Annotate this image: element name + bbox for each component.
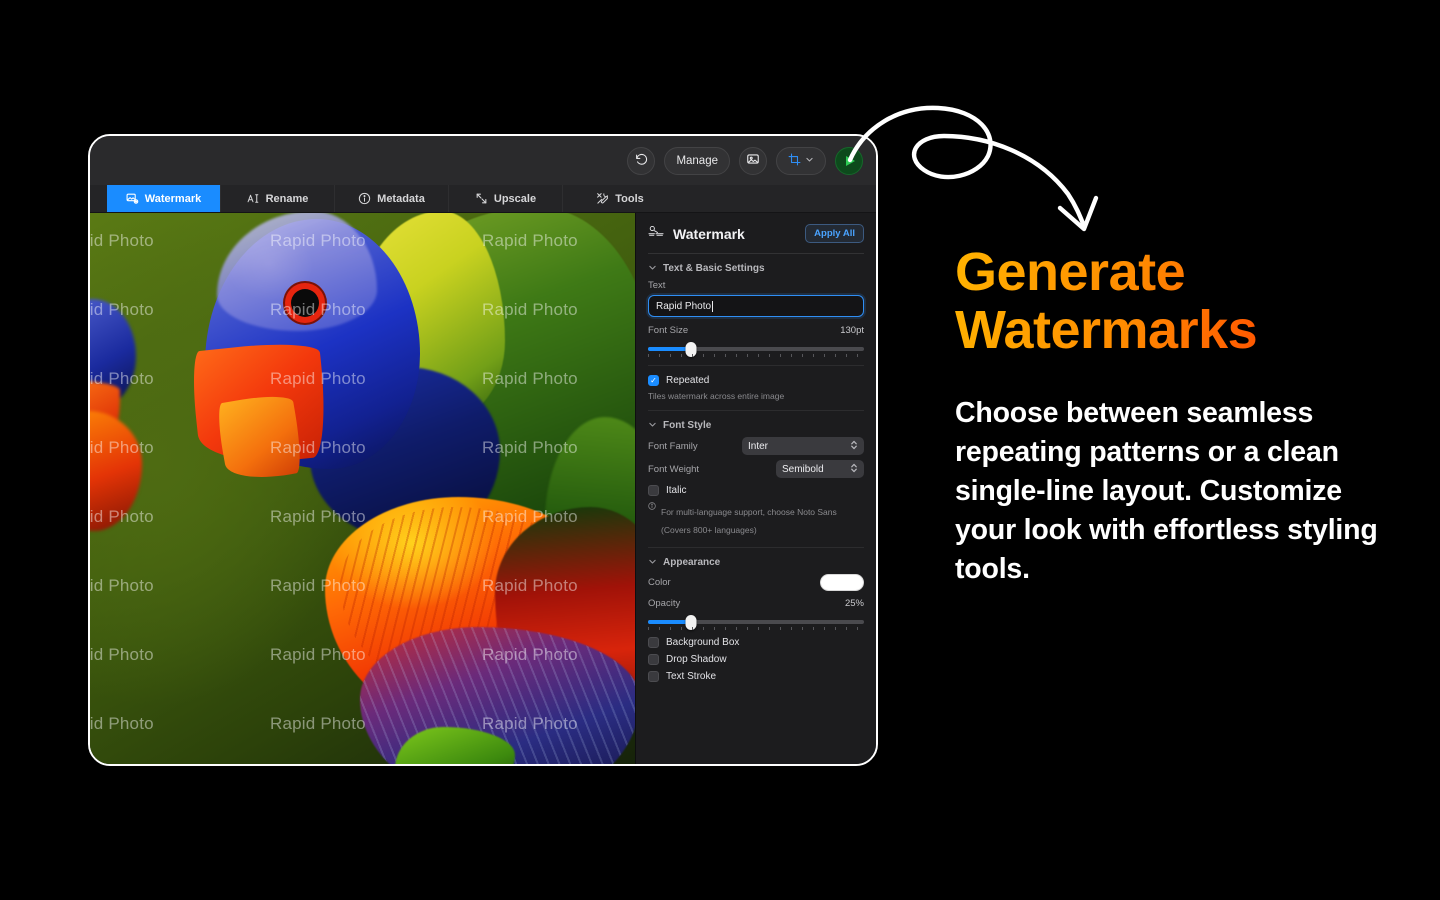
text-stroke-label: Text Stroke [666, 671, 716, 682]
drop-shadow-label: Drop Shadow [666, 654, 727, 665]
italic-checkbox[interactable] [648, 485, 659, 496]
tab-watermark-label: Watermark [145, 193, 201, 205]
text-stroke-checkbox[interactable] [648, 671, 659, 682]
text-caret [712, 301, 713, 312]
info-circle-icon [648, 502, 656, 513]
watermark-icon [648, 224, 664, 243]
undo-button[interactable] [627, 147, 655, 175]
promo-headline-line1: Generate [955, 244, 1385, 302]
tools-icon [596, 192, 609, 205]
gallery-icon [746, 152, 760, 169]
font-family-label: Font Family [648, 441, 698, 452]
window-toolbar: Manage [90, 136, 876, 185]
section-font-style: Font Style Font Family Inter Font Weight [648, 420, 864, 557]
manage-button-label: Manage [676, 155, 718, 167]
tab-tools[interactable]: Tools [563, 185, 677, 212]
section-appearance-label: Appearance [663, 557, 720, 568]
undo-icon [635, 153, 648, 169]
section-text-basic-label: Text & Basic Settings [663, 263, 765, 274]
font-style-hint-line2: (Covers 800+ languages) [661, 525, 757, 535]
font-family-row: Font Family Inter [648, 437, 864, 455]
chevron-down-icon [648, 263, 657, 274]
section-appearance: Appearance Color Opacity 25% [648, 557, 864, 691]
tab-watermark[interactable]: Watermark [107, 185, 221, 212]
main-tab-bar: Watermark Rename Metadata [90, 185, 876, 213]
section-text-basic-header[interactable]: Text & Basic Settings [648, 263, 864, 274]
background-box-label: Background Box [666, 637, 739, 648]
color-row: Color [648, 574, 864, 591]
watermark-text-input[interactable]: Rapid Photo [648, 295, 864, 317]
chevron-down-icon [648, 557, 657, 568]
slider-ticks [648, 627, 864, 630]
opacity-value: 25% [845, 598, 864, 609]
section-font-style-header[interactable]: Font Style [648, 420, 864, 431]
divider [648, 410, 864, 411]
tab-metadata[interactable]: Metadata [335, 185, 449, 212]
divider [648, 365, 864, 366]
rainbow-lorikeet [195, 213, 635, 764]
crop-chevron-down-icon [805, 155, 814, 167]
tab-upscale-label: Upscale [494, 193, 536, 205]
font-family-select[interactable]: Inter [742, 437, 864, 455]
opacity-slider[interactable] [648, 615, 864, 629]
text-cursor-icon [247, 192, 260, 205]
stepper-chevrons-icon [850, 439, 858, 452]
repeated-checkbox-row[interactable]: ✓ Repeated [648, 375, 864, 386]
opacity-row: Opacity 25% [648, 598, 864, 609]
inspector-header: Watermark Apply All [648, 213, 864, 253]
italic-checkbox-row[interactable]: Italic [648, 485, 864, 496]
gallery-button[interactable] [739, 147, 767, 175]
section-font-style-label: Font Style [663, 420, 711, 431]
tab-metadata-label: Metadata [377, 193, 425, 205]
font-weight-row: Font Weight Semibold [648, 460, 864, 478]
expand-arrows-icon [475, 192, 488, 205]
watermark-text-value: Rapid Photo [656, 301, 711, 312]
font-size-slider[interactable] [648, 342, 864, 356]
font-size-row: Font Size 130pt [648, 325, 864, 336]
photo-canvas[interactable]: Rapid Photo Rapid Photo Rapid Photo Rapi… [90, 213, 635, 764]
repeated-label: Repeated [666, 375, 709, 386]
section-text-basic-settings: Text & Basic Settings Text Rapid Photo F… [648, 254, 864, 420]
italic-label: Italic [666, 485, 687, 496]
background-bird [90, 299, 156, 529]
text-field-label: Text [648, 280, 864, 291]
tab-rename-label: Rename [266, 193, 309, 205]
slider-ticks [648, 354, 864, 357]
watermark-icon [126, 192, 139, 205]
opacity-label: Opacity [648, 598, 680, 609]
promo-body: Choose between seamless repeating patter… [955, 394, 1385, 589]
tab-rename[interactable]: Rename [221, 185, 335, 212]
color-swatch[interactable] [820, 574, 864, 591]
repeated-checkbox[interactable]: ✓ [648, 375, 659, 386]
crop-button[interactable] [776, 147, 826, 175]
background-box-checkbox[interactable] [648, 637, 659, 648]
promo-headline-line2: Watermarks [955, 302, 1385, 360]
drop-shadow-checkbox-row[interactable]: Drop Shadow [648, 654, 864, 665]
info-circle-icon [358, 192, 371, 205]
watermark-inspector-panel: Watermark Apply All Text & Basic Setting… [635, 213, 876, 764]
background-box-checkbox-row[interactable]: Background Box [648, 637, 864, 648]
section-appearance-header[interactable]: Appearance [648, 557, 864, 568]
font-size-label: Font Size [648, 325, 688, 336]
font-size-value: 130pt [840, 325, 864, 336]
font-style-hint: For multi-language support, choose Noto … [648, 502, 864, 538]
font-weight-value: Semibold [782, 464, 824, 475]
repeated-hint: Tiles watermark across entire image [648, 391, 864, 401]
tab-tools-label: Tools [615, 193, 644, 205]
promo-block: Generate Watermarks Choose between seaml… [955, 244, 1385, 589]
color-label: Color [648, 577, 671, 588]
app-window: Manage [88, 134, 878, 766]
manage-button[interactable]: Manage [664, 147, 730, 175]
font-weight-select[interactable]: Semibold [776, 460, 864, 478]
drop-shadow-checkbox[interactable] [648, 654, 659, 665]
chevron-down-icon [648, 420, 657, 431]
stepper-chevrons-icon [850, 462, 858, 475]
app-body: Rapid Photo Rapid Photo Rapid Photo Rapi… [90, 213, 876, 764]
tab-upscale[interactable]: Upscale [449, 185, 563, 212]
slide-canvas: Manage [0, 0, 1440, 900]
font-family-value: Inter [748, 441, 768, 452]
font-weight-label: Font Weight [648, 464, 699, 475]
crop-icon [788, 153, 801, 169]
promo-headline: Generate Watermarks [955, 244, 1385, 360]
inspector-title: Watermark [673, 226, 796, 242]
divider [648, 547, 864, 548]
text-stroke-checkbox-row[interactable]: Text Stroke [648, 671, 864, 682]
hand-drawn-arrow-annotation [838, 98, 1138, 238]
font-style-hint-line1: For multi-language support, choose Noto … [661, 507, 837, 517]
